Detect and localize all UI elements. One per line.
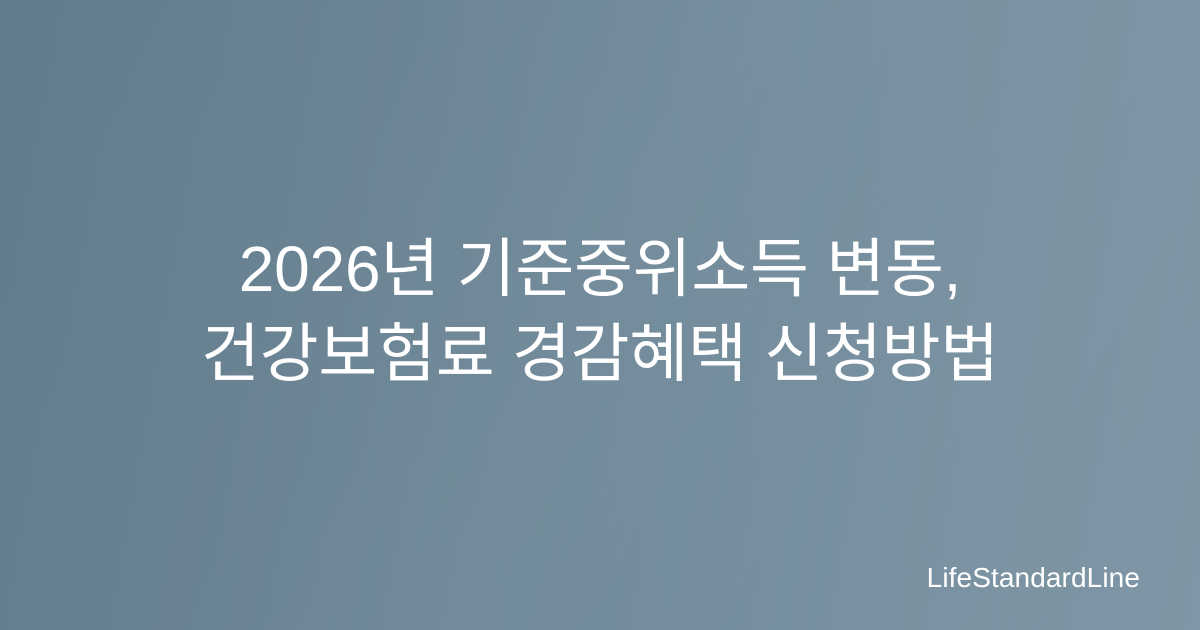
page-title: 2026년 기준중위소득 변동, 건강보험료 경감혜택 신청방법 xyxy=(100,227,1100,403)
site-watermark: LifeStandardLine xyxy=(927,564,1140,592)
share-card: 2026년 기준중위소득 변동, 건강보험료 경감혜택 신청방법 LifeSta… xyxy=(0,0,1200,630)
